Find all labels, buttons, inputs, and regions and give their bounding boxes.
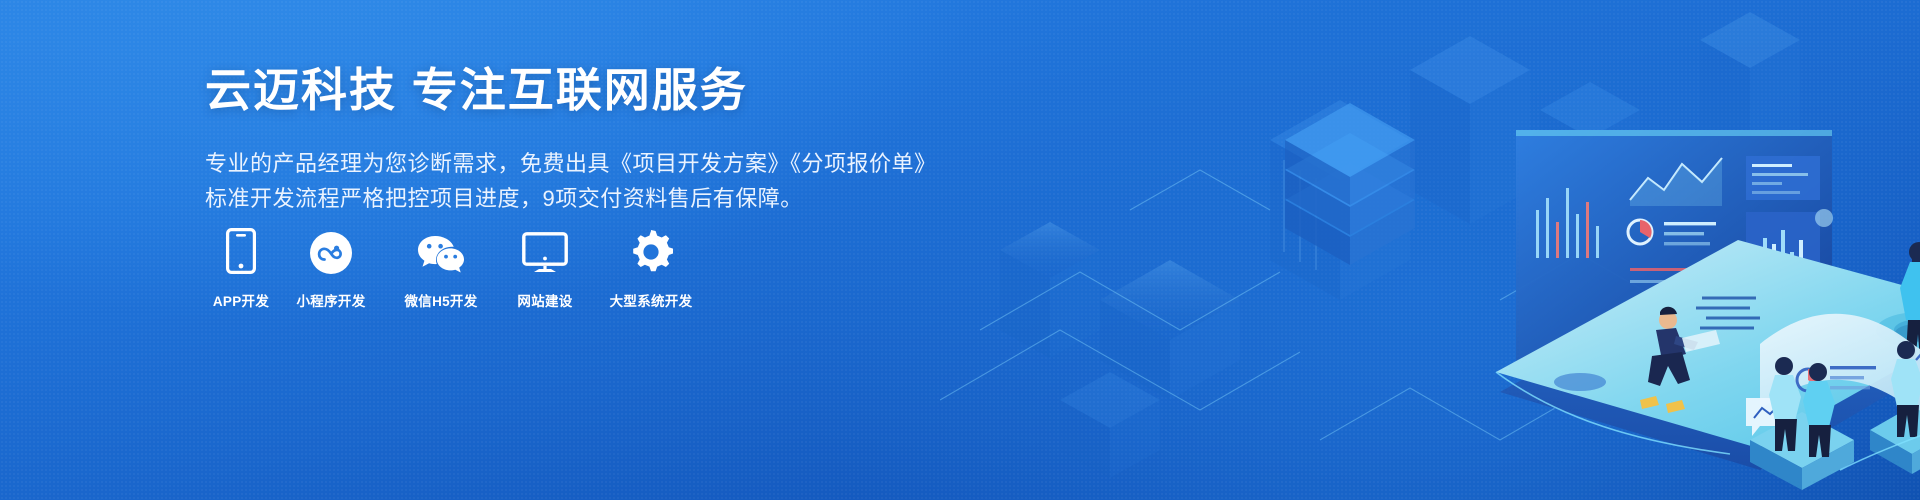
mini-program-glyph [310,232,352,274]
subtitle-line-2: 标准开发流程严格把控项目进度，9项交付资料售后有保障。 [205,181,965,217]
mobile-phone-icon [226,228,256,274]
service-icon-row: APP开发 小程序开发 [205,228,709,310]
service-label-website: 网站建设 [517,290,572,310]
service-label-system: 大型系统开发 [610,290,693,310]
service-label-miniprogram: 小程序开发 [297,290,366,310]
monitor-glyph [522,232,568,274]
service-item-app[interactable]: APP开发 [205,228,277,310]
mobile-phone-glyph [226,228,256,274]
mini-program-icon [310,228,352,274]
hero-banner: 云迈科技 专注互联网服务 专业的产品经理为您诊断需求，免费出具《项目开发方案》《… [0,0,1920,500]
subtitle-line-1: 专业的产品经理为您诊断需求，免费出具《项目开发方案》《分项报价单》 [205,146,965,182]
isometric-tech-illustration [940,0,1920,500]
hero-content: 云迈科技 专注互联网服务 专业的产品经理为您诊断需求，免费出具《项目开发方案》《… [205,62,965,217]
wechat-glyph [417,232,465,274]
service-item-system[interactable]: 大型系统开发 [593,228,709,310]
service-item-website[interactable]: 网站建设 [497,228,593,310]
subtitle-block: 专业的产品经理为您诊断需求，免费出具《项目开发方案》《分项报价单》 标准开发流程… [205,146,965,217]
service-item-wechat[interactable]: 微信H5开发 [385,228,497,310]
service-label-app: APP开发 [213,290,269,310]
hero-illustration [940,0,1920,500]
monitor-icon [522,228,568,274]
service-label-wechat: 微信H5开发 [404,290,477,310]
gear-glyph [629,230,673,274]
page-title: 云迈科技 专注互联网服务 [205,62,965,120]
service-item-miniprogram[interactable]: 小程序开发 [277,228,385,310]
wechat-icon [417,228,465,274]
gear-icon [629,228,673,274]
